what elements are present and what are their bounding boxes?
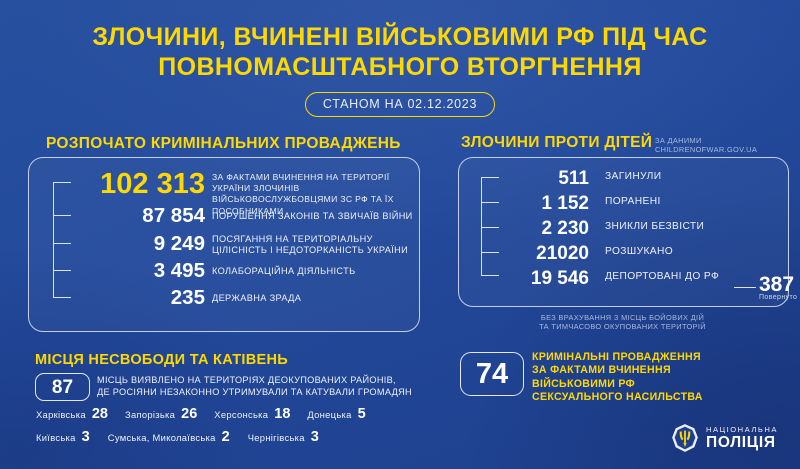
source-line-1: ЗА ДАНИМИ bbox=[655, 136, 757, 145]
national-police-logo: НАЦІОНАЛЬНА ПОЛІЦІЯ bbox=[672, 424, 778, 452]
bracket-tick bbox=[53, 182, 71, 183]
footnote-line-2: ТА ТИМЧАСОВО ОКУПОВАНИХ ТЕРИТОРІЙ bbox=[458, 322, 787, 331]
proceeding-value: 235 bbox=[73, 288, 205, 309]
children-stat-label: ПОРАНЕНІ bbox=[605, 197, 661, 207]
proceeding-label: КОЛАБОРАЦІЙНА ДІЯЛЬНІСТЬ bbox=[212, 266, 417, 277]
bracket-tick bbox=[53, 297, 71, 298]
proceeding-label: ПОРУШЕННЯ ЗАКОНІВ ТА ЗВИЧАЇВ ВІЙНИ bbox=[212, 211, 417, 222]
region-item: Херсонська 18 bbox=[214, 407, 290, 422]
returned-value: 387 bbox=[759, 274, 794, 295]
children-stat-value: 511 bbox=[481, 169, 589, 188]
children-stat-label: ЗНИКЛИ БЕЗВІСТИ bbox=[605, 222, 704, 232]
region-value: 28 bbox=[92, 407, 108, 422]
total-proceedings-value: 102 313 bbox=[73, 170, 205, 199]
page-title-line-1: ЗЛОЧИНИ, ВЧИНЕНІ ВІЙСЬКОВИМИ РФ ПІД ЧАС bbox=[0, 22, 800, 52]
children-stat-label: ДЕПОРТОВАНІ ДО РФ bbox=[605, 272, 719, 282]
header: ЗЛОЧИНИ, ВЧИНЕНІ ВІЙСЬКОВИМИ РФ ПІД ЧАС … bbox=[0, 22, 800, 117]
returned-connector bbox=[734, 287, 756, 288]
sexual-violence-description: КРИМІНАЛЬНІ ПРОВАДЖЕННЯ ЗА ФАКТАМИ ВЧИНЕ… bbox=[532, 351, 794, 405]
regions-row-1: Харківська 28 Запорізька 26 Херсонська 1… bbox=[36, 407, 366, 422]
region-name: Сумська, Миколаївська bbox=[108, 432, 216, 443]
children-stat-value: 1 152 bbox=[481, 194, 589, 213]
proceeding-value: 3 495 bbox=[73, 261, 205, 282]
region-item: Донецька 5 bbox=[307, 407, 365, 422]
region-value: 3 bbox=[311, 430, 319, 445]
detention-description-line-1: МІСЦЬ ВИЯВЛЕНО НА ТЕРИТОРІЯХ ДЕОКУПОВАНИ… bbox=[97, 375, 442, 387]
source-line-2: CHILDRENOFWAR.GOV.UA bbox=[655, 145, 757, 154]
crimes-against-children-panel: 511 ЗАГИНУЛИ 1 152 ПОРАНЕНІ 2 230 ЗНИКЛИ… bbox=[458, 157, 789, 307]
sexual-violence-count-badge: 74 bbox=[460, 352, 524, 396]
children-stat-label: РОЗШУКАНО bbox=[605, 247, 673, 257]
region-item: Сумська, Миколаївська 2 bbox=[108, 430, 230, 445]
region-value: 3 bbox=[82, 430, 90, 445]
region-value: 26 bbox=[181, 407, 197, 422]
bracket-tick bbox=[53, 270, 71, 271]
proceeding-value: 9 249 bbox=[73, 234, 205, 255]
region-item: Запорізька 26 bbox=[125, 407, 197, 422]
children-footnote: БЕЗ ВРАХУВАННЯ З МІСЦЬ БОЙОВИХ ДІЙ ТА ТИ… bbox=[458, 313, 787, 332]
sexual-violence-line-3: ВІЙСЬКОВИМИ РФ bbox=[532, 378, 794, 391]
region-name: Херсонська bbox=[214, 409, 268, 420]
source-attribution: ЗА ДАНИМИ CHILDRENOFWAR.GOV.UA bbox=[655, 136, 757, 154]
sexual-violence-line-4: СЕКСУАЛЬНОГО НАСИЛЬСТВА bbox=[532, 391, 794, 404]
section-heading-criminal-proceedings: РОЗПОЧАТО КРИМІНАЛЬНИХ ПРОВАДЖЕНЬ bbox=[46, 135, 401, 153]
region-value: 18 bbox=[274, 407, 290, 422]
region-name: Чернігівська bbox=[248, 432, 305, 443]
region-name: Харківська bbox=[36, 409, 86, 420]
region-item: Харківська 28 bbox=[36, 407, 108, 422]
detention-description: МІСЦЬ ВИЯВЛЕНО НА ТЕРИТОРІЯХ ДЕОКУПОВАНИ… bbox=[97, 375, 442, 398]
children-stat-value: 21020 bbox=[481, 244, 589, 263]
detention-description-line-2: ДЕ РОСІЯНИ НЕЗАКОННО УТРИМУВАЛИ ТА КАТУВ… bbox=[97, 387, 442, 399]
criminal-proceedings-panel: 102 313 ЗА ФАКТАМИ ВЧИНЕННЯ НА ТЕРИТОРІЇ… bbox=[28, 157, 420, 332]
region-name: Київська bbox=[36, 432, 76, 443]
infographic-root: ЗЛОЧИНИ, ВЧИНЕНІ ВІЙСЬКОВИМИ РФ ПІД ЧАС … bbox=[0, 0, 800, 469]
proceeding-label: ПОСЯГАННЯ НА ТЕРИТОРІАЛЬНУ ЦІЛІСНІСТЬ І … bbox=[212, 234, 417, 256]
children-stat-value: 19 546 bbox=[481, 269, 589, 288]
section-heading-detention-places: МІСЦЯ НЕСВОБОДИ ТА КАТІВЕНЬ bbox=[35, 352, 288, 368]
logo-text-bottom: ПОЛІЦІЯ bbox=[706, 434, 778, 451]
children-stat-label: ЗАГИНУЛИ bbox=[605, 172, 662, 182]
date-badge: СТАНОМ НА 02.12.2023 bbox=[305, 92, 495, 117]
region-name: Донецька bbox=[307, 409, 351, 420]
logo-text-top: НАЦІОНАЛЬНА bbox=[706, 425, 778, 434]
region-item: Чернігівська 3 bbox=[248, 430, 319, 445]
region-name: Запорізька bbox=[125, 409, 175, 420]
logo-text: НАЦІОНАЛЬНА ПОЛІЦІЯ bbox=[706, 425, 778, 451]
region-value: 2 bbox=[222, 430, 230, 445]
bracket-tick bbox=[53, 215, 71, 216]
bracket-connector-left bbox=[53, 182, 54, 297]
bracket-tick bbox=[53, 243, 71, 244]
section-heading-crimes-against-children: ЗЛОЧИНИ ПРОТИ ДІТЕЙ bbox=[461, 134, 652, 152]
footnote-line-1: БЕЗ ВРАХУВАННЯ З МІСЦЬ БОЙОВИХ ДІЙ bbox=[458, 313, 787, 322]
sexual-violence-line-1: КРИМІНАЛЬНІ ПРОВАДЖЕННЯ bbox=[532, 351, 794, 364]
police-badge-icon bbox=[672, 424, 698, 452]
detention-count-badge: 87 bbox=[35, 373, 90, 401]
regions-row-2: Київська 3 Сумська, Миколаївська 2 Черні… bbox=[36, 430, 319, 445]
proceeding-label: ДЕРЖАВНА ЗРАДА bbox=[212, 293, 417, 304]
sexual-violence-line-2: ЗА ФАКТАМИ ВЧИНЕННЯ bbox=[532, 364, 794, 377]
children-stat-value: 2 230 bbox=[481, 219, 589, 238]
returned-label: Повернуто bbox=[759, 294, 797, 301]
region-item: Київська 3 bbox=[36, 430, 90, 445]
region-value: 5 bbox=[358, 407, 366, 422]
page-title-line-2: ПОВНОМАСШТАБНОГО ВТОРГНЕННЯ bbox=[0, 52, 800, 82]
proceeding-value: 87 854 bbox=[73, 206, 205, 227]
